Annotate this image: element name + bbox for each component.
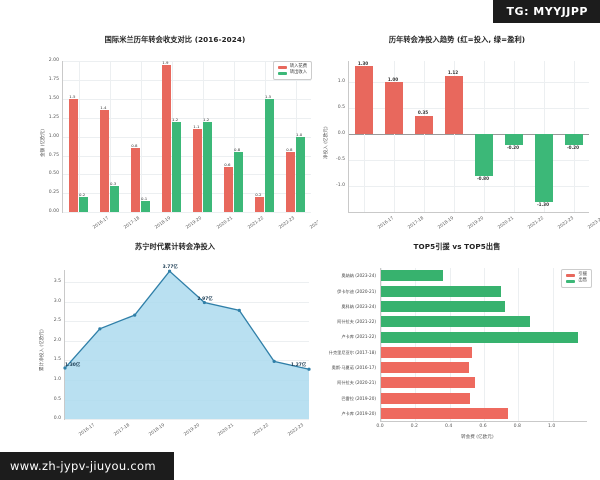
- legend-swatch: [278, 66, 287, 69]
- gridline: [63, 212, 311, 213]
- gridline: [553, 268, 554, 421]
- x-tick-label-1: 2017-18: [116, 216, 140, 235]
- x-tick-label-2: 2021-22: [521, 216, 545, 235]
- y-tick-label-3: 2.5: [38, 318, 61, 323]
- x-tick-label-2: 2018-19: [431, 216, 455, 235]
- y-tick-label-1: 0.50: [36, 171, 59, 176]
- x-tick-label-1: 2018-19: [147, 216, 171, 235]
- y-tick-label-1: 2.00: [36, 58, 59, 63]
- area-fill: [65, 271, 309, 419]
- bar-net-value: [355, 66, 374, 134]
- hbar-category-label: 奥纳纳 (2023-24): [318, 273, 376, 279]
- x-tick-label-3: 2016-17: [72, 423, 96, 442]
- legend-swatch: [566, 274, 575, 277]
- y-tick-label-2: 1.0: [321, 79, 345, 84]
- bar-转出收入: [203, 122, 212, 213]
- data-annotation: 1.27亿: [291, 362, 306, 368]
- x-tick-label-4: 0.0: [372, 424, 388, 429]
- chart-panel-top5-in-vs-out: TOP5引援 vs TOP5出售 0.00.20.40.60.81.0奥纳纳 (…: [318, 237, 596, 442]
- x-tick-label-1: 2021-22: [240, 216, 264, 235]
- x-tick-label-2: 2019-20: [461, 216, 485, 235]
- x-tick-label-4: 0.4: [441, 424, 457, 429]
- hbar-出售: [381, 332, 578, 343]
- bar-value-label: 1.00: [380, 77, 407, 82]
- bar-value-label: 1.4: [96, 105, 111, 110]
- bar-转入花费: [224, 167, 233, 212]
- bar-value-label: 0.35: [410, 110, 437, 115]
- chart-legend-1: 转入花费转出收入: [273, 61, 312, 79]
- hbar-引援: [381, 347, 472, 358]
- legend-row: 出售: [566, 278, 587, 284]
- data-annotation: 3.77亿: [163, 264, 178, 270]
- x-axis-title-4: 转会费 (亿欧元): [461, 434, 494, 440]
- bar-转入花费: [100, 110, 109, 212]
- bar-value-label: -0.20: [560, 145, 587, 150]
- bar-value-label: 0.6: [220, 162, 235, 167]
- bar-转入花费: [255, 197, 264, 212]
- chart-title-4: TOP5引援 vs TOP5出售: [318, 237, 596, 250]
- data-annotation: 1.30亿: [65, 362, 80, 368]
- plot-canvas-2: [348, 61, 589, 213]
- plot-area-2: -1.0-0.50.00.51.01.302016-171.002017-180…: [318, 43, 596, 248]
- chart-legend-4: 引援出售: [561, 269, 592, 287]
- chart-title-1: 国际米兰历年转会收支对比 (2016-2024): [34, 30, 316, 43]
- y-tick-label-3: 0.0: [38, 416, 61, 421]
- bar-net-value: [505, 134, 524, 144]
- bar-转入花费: [286, 152, 295, 212]
- bar-value-label: 0.8: [127, 143, 142, 148]
- plot-canvas-4: [380, 268, 587, 422]
- y-tick-label-2: 0.5: [321, 105, 345, 110]
- y-tick-label-1: 1.25: [36, 115, 59, 120]
- chart-title-2: 历年转会净投入趋势 (红=投入, 绿=盈利): [318, 30, 596, 43]
- bar-value-label: 0.3: [106, 181, 121, 186]
- bar-net-value: [475, 134, 494, 176]
- bar-value-label: -0.80: [470, 176, 497, 181]
- x-tick-label-4: 0.8: [509, 424, 525, 429]
- legend-swatch: [566, 280, 575, 283]
- y-axis-title-1: 金额 (亿欧元): [40, 129, 46, 157]
- bar-net-value: [445, 76, 464, 134]
- bar-value-label: 0.8: [230, 147, 245, 152]
- data-annotation: 2.97亿: [197, 296, 212, 302]
- hbar-category-label: 卢卡库 (2021-22): [318, 334, 376, 340]
- bar-转出收入: [79, 197, 88, 212]
- legend-swatch: [278, 72, 287, 75]
- x-tick-label-1: 2020-21: [209, 216, 233, 235]
- x-tick-label-2: 2023-24: [581, 216, 600, 235]
- bar-转出收入: [172, 122, 181, 213]
- x-tick-label-4: 0.2: [406, 424, 422, 429]
- y-axis-title-3: 累计净投入 (亿欧元): [39, 329, 45, 371]
- x-tick-label-3: 2019-20: [176, 423, 200, 442]
- x-tick-label-1: 2022-23: [271, 216, 295, 235]
- hbar-出售: [381, 301, 505, 312]
- gridline: [63, 99, 311, 100]
- hbar-category-label: 阿什拉夫 (2020-21): [318, 380, 376, 386]
- hbar-出售: [381, 286, 501, 297]
- y-tick-label-1: 1.50: [36, 96, 59, 101]
- hbar-引援: [381, 362, 469, 373]
- data-point: [273, 360, 276, 363]
- bar-转出收入: [234, 152, 243, 212]
- hbar-category-label: 奥科纳 (2023-24): [318, 304, 376, 310]
- y-tick-label-1: 0.00: [36, 209, 59, 214]
- tag-badge: TG: MYYJJPP: [493, 0, 600, 23]
- gridline: [79, 61, 80, 212]
- x-tick-label-2: 2020-21: [491, 216, 515, 235]
- bar-value-label: 0.2: [75, 192, 90, 197]
- hbar-引援: [381, 393, 470, 404]
- cumulative-line-svg: [65, 270, 309, 419]
- bar-转出收入: [110, 186, 119, 212]
- x-tick-label-2: 2022-23: [551, 216, 575, 235]
- bar-转入花费: [193, 129, 202, 212]
- plot-canvas-1: [62, 61, 311, 213]
- bar-net-value: [535, 134, 554, 202]
- x-tick-label-4: 0.6: [475, 424, 491, 429]
- bar-value-label: -0.20: [500, 145, 527, 150]
- data-point: [307, 368, 310, 371]
- hbar-出售: [381, 270, 443, 281]
- bar-转入花费: [162, 65, 171, 212]
- bar-value-label: 1.5: [261, 94, 276, 99]
- y-tick-label-1: 1.75: [36, 77, 59, 82]
- x-tick-label-1: 2019-20: [178, 216, 202, 235]
- bar-value-label: 1.1: [189, 124, 204, 129]
- data-point: [238, 309, 241, 312]
- bar-value-label: 1.2: [168, 117, 183, 122]
- bar-value-label: 0.2: [251, 192, 266, 197]
- chart-title-3: 苏宁时代累计转会净投入: [34, 237, 316, 250]
- gridline: [65, 419, 309, 420]
- hbar-category-label: 阿什拉夫 (2021-22): [318, 319, 376, 325]
- plot-area-3: 0.00.51.01.52.02.53.03.52016-172017-1820…: [34, 250, 316, 455]
- bar-转入花费: [131, 148, 140, 212]
- gridline: [141, 61, 142, 212]
- chart-panel-net-transfer-trend: 历年转会净投入趋势 (红=投入, 绿=盈利) -1.0-0.50.00.51.0…: [318, 30, 596, 235]
- hbar-category-label: 伊卡尔迪 (2020-21): [318, 289, 376, 295]
- gridline: [518, 268, 519, 421]
- bar-value-label: 1.0: [292, 132, 307, 137]
- x-tick-label-3: 2021-22: [246, 423, 270, 442]
- hbar-category-label: 奥斯·马夏诺 (2016-17): [318, 365, 376, 371]
- plot-area-1: 0.000.250.500.751.001.251.501.752.001.50…: [34, 43, 316, 248]
- gridline: [424, 61, 425, 212]
- y-tick-label-3: 1.0: [38, 377, 61, 382]
- hbar-category-label: 什克里尼亚尔 (2017-18): [318, 350, 376, 356]
- legend-label: 转出收入: [290, 70, 307, 76]
- y-tick-label-2: -1.0: [321, 183, 345, 188]
- plot-canvas-3: [64, 270, 309, 420]
- legend-row: 转出收入: [278, 70, 307, 76]
- bar-value-label: 1.30: [350, 61, 377, 66]
- plot-area-4: 0.00.20.40.60.81.0奥纳纳 (2023-24)伊卡尔迪 (202…: [318, 250, 596, 455]
- bar-value-label: 0.1: [137, 196, 152, 201]
- chart-panel-transfer-income-expense: 国际米兰历年转会收支对比 (2016-2024) 0.000.250.500.7…: [34, 30, 316, 235]
- x-tick-label-3: 2018-19: [141, 423, 165, 442]
- x-tick-label-1: 2016-17: [85, 216, 109, 235]
- bar-net-value: [565, 134, 584, 144]
- chart-grid: 国际米兰历年转会收支对比 (2016-2024) 0.000.250.500.7…: [0, 0, 600, 480]
- y-tick-label-3: 3.5: [38, 279, 61, 284]
- hbar-category-label: 卢卡库 (2019-20): [318, 411, 376, 417]
- bar-value-label: 1.2: [199, 117, 214, 122]
- bar-net-value: [385, 82, 404, 134]
- y-tick-label-3: 3.0: [38, 299, 61, 304]
- hbar-引援: [381, 377, 475, 388]
- hbar-出售: [381, 316, 530, 327]
- bar-value-label: 1.5: [65, 94, 80, 99]
- bar-value-label: 1.9: [158, 60, 173, 65]
- hbar-category-label: 巴雷拉 (2019-20): [318, 396, 376, 402]
- legend-label: 出售: [578, 278, 587, 284]
- bar-net-value: [415, 116, 434, 134]
- hbar-引援: [381, 408, 508, 419]
- x-tick-label-3: 2020-21: [211, 423, 235, 442]
- bar-value-label: 0.8: [282, 147, 297, 152]
- data-point: [133, 314, 136, 317]
- bar-转出收入: [141, 201, 150, 212]
- data-point: [98, 327, 101, 330]
- watermark-url: www.zh-jypv-jiuyou.com: [0, 452, 174, 480]
- bar-value-label: -1.30: [530, 202, 557, 207]
- x-tick-label-3: 2017-18: [107, 423, 131, 442]
- y-tick-label-1: 0.25: [36, 190, 59, 195]
- x-tick-label-3: 2022-23: [281, 423, 305, 442]
- y-axis-title-2: 净投入 (亿欧元): [323, 126, 329, 159]
- x-tick-label-2: 2017-18: [401, 216, 425, 235]
- screenshot-root: 国际米兰历年转会收支对比 (2016-2024) 0.000.250.500.7…: [0, 0, 600, 480]
- chart-panel-cumulative-net-investment: 苏宁时代累计转会净投入 0.00.51.01.52.02.53.03.52016…: [34, 237, 316, 442]
- x-tick-label-4: 1.0: [544, 424, 560, 429]
- bar-value-label: 1.12: [440, 70, 467, 75]
- x-tick-label-2: 2016-17: [371, 216, 395, 235]
- gridline: [63, 80, 311, 81]
- y-tick-label-3: 0.5: [38, 397, 61, 402]
